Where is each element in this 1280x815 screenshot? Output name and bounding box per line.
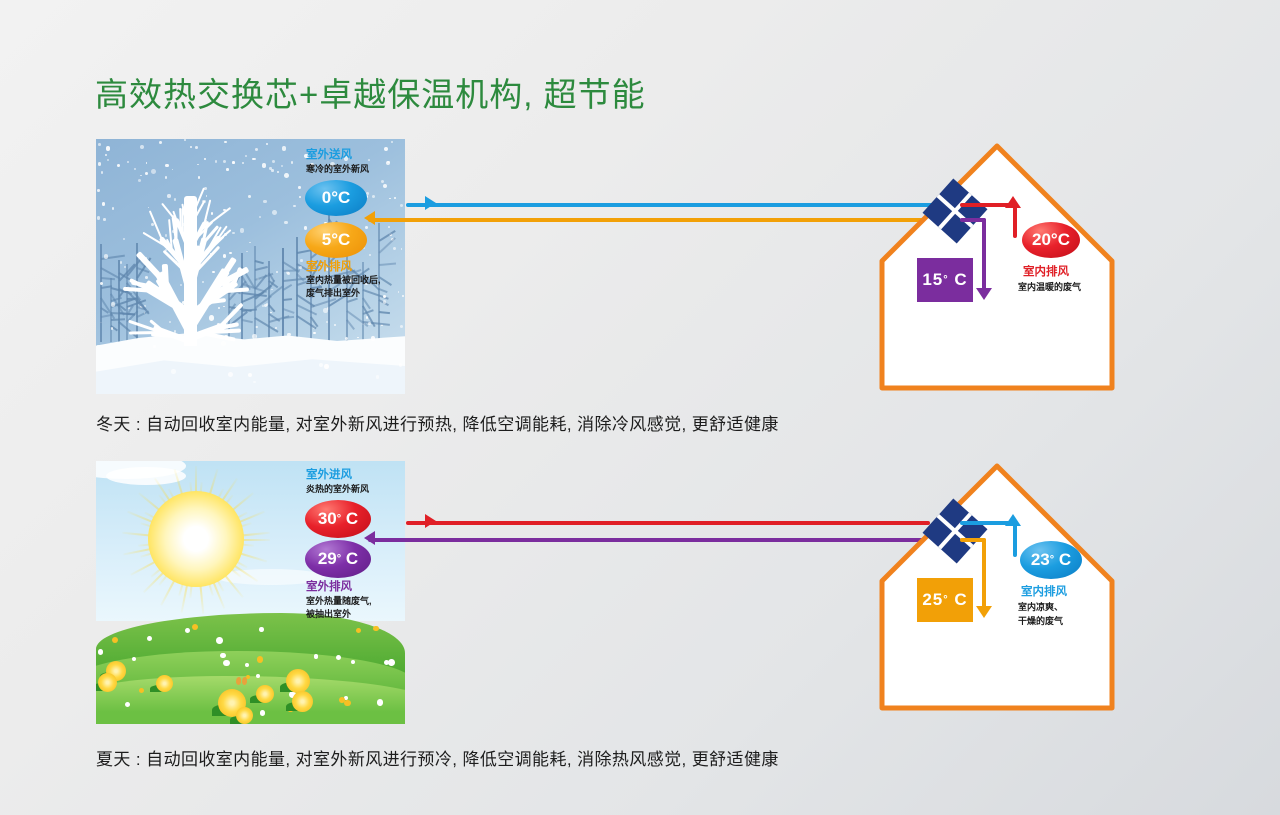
- winter-supply-duct: [406, 203, 934, 207]
- summer-return-label: 室内排风: [1021, 583, 1067, 599]
- summer-supply-temp-bubble: 30° C: [305, 500, 371, 538]
- winter-supply-temp-value: 0: [322, 188, 331, 208]
- summer-indoor-deg: °: [943, 594, 948, 606]
- summer-supply-deg: °: [337, 513, 341, 525]
- summer-return-desc-1: 室内凉爽、: [1018, 601, 1063, 614]
- summer-return-temp-bubble: 23° C: [1020, 541, 1082, 579]
- winter-house-outline: [872, 136, 1122, 398]
- winter-exhaust-duct: [368, 218, 934, 222]
- winter-exhaust-desc-2: 废气排出室外: [306, 287, 360, 300]
- winter-return-desc: 室内温暖的废气: [1018, 281, 1081, 294]
- summer-scene-image: [96, 461, 405, 724]
- summer-indoor-temp-value: 25: [922, 590, 943, 610]
- winter-supply-label: 室外送风: [306, 146, 352, 162]
- summer-supply-duct: [406, 521, 930, 525]
- winter-supply-desc: 寒冷的室外新风: [306, 163, 369, 176]
- winter-exhaust-temp-value: 5: [322, 230, 331, 250]
- summer-exhaust-deg: °: [337, 553, 341, 565]
- summer-indoor-riser: [982, 538, 986, 608]
- summer-exhaust-desc-1: 室外热量随废气,: [306, 595, 372, 608]
- winter-return-temp-bubble: 20°C: [1022, 222, 1080, 258]
- summer-return-deg: °: [1050, 554, 1054, 566]
- winter-return-arrow-up: [1005, 196, 1021, 208]
- summer-return-temp-value: 23: [1031, 550, 1050, 570]
- winter-indoor-arrow-down: [976, 288, 992, 300]
- summer-return-riser: [1013, 521, 1017, 557]
- summer-supply-temp-value: 30: [318, 509, 337, 529]
- winter-exhaust-arrow: [364, 211, 375, 225]
- summer-exhaust-temp-value: 29: [318, 549, 337, 569]
- summer-supply-label: 室外进风: [306, 466, 352, 482]
- summer-indoor-arrow-down: [976, 606, 992, 618]
- snowfall-front: [96, 139, 405, 394]
- winter-return-temp-unit: °C: [1051, 230, 1070, 250]
- winter-indoor-temp-value: 15: [922, 270, 943, 290]
- winter-return-riser: [1013, 203, 1017, 238]
- summer-exhaust-unit: C: [346, 549, 358, 569]
- summer-exhaust-desc-2: 被抽出室外: [306, 608, 351, 621]
- winter-caption: 冬天 : 自动回收室内能量, 对室外新风进行预热, 降低空调能耗, 消除冷风感觉…: [96, 410, 779, 435]
- summer-house-outline: [872, 456, 1122, 718]
- summer-return-arrow-up: [1005, 514, 1021, 526]
- winter-scene-image: [96, 139, 405, 394]
- summer-return-desc-2: 干燥的废气: [1018, 615, 1063, 628]
- winter-supply-temp-unit: °C: [331, 188, 350, 208]
- winter-supply-arrow: [425, 196, 436, 210]
- winter-return-label: 室内排风: [1023, 263, 1069, 279]
- winter-exhaust-desc-1: 室内热量被回收后,: [306, 274, 381, 287]
- winter-exhaust-label: 室外排风: [306, 258, 352, 274]
- summer-indoor-unit: C: [954, 590, 967, 610]
- sun: [148, 491, 244, 587]
- winter-house: [872, 136, 1122, 398]
- page-title: 高效热交换芯+卓越保温机构, 超节能: [95, 68, 646, 116]
- winter-indoor-unit: C: [954, 270, 967, 290]
- winter-exhaust-temp-unit: °C: [331, 230, 350, 250]
- winter-supply-temp-bubble: 0°C: [305, 180, 367, 216]
- winter-indoor-riser: [982, 218, 986, 290]
- summer-exhaust-temp-bubble: 29° C: [305, 540, 371, 578]
- slide-canvas: 高效热交换芯+卓越保温机构, 超节能 室外送风 寒冷的室外新风 0°C 5°C …: [0, 0, 1280, 815]
- winter-indoor-temp-box: 15° C: [917, 258, 973, 302]
- summer-indoor-temp-box: 25° C: [917, 578, 973, 622]
- winter-exhaust-temp-bubble: 5°C: [305, 222, 367, 258]
- summer-exhaust-duct: [368, 538, 932, 542]
- summer-exhaust-label: 室外排风: [306, 578, 352, 594]
- summer-caption: 夏天 : 自动回收室内能量, 对室外新风进行预冷, 降低空调能耗, 消除热风感觉…: [96, 745, 779, 770]
- summer-supply-desc: 炎热的室外新风: [306, 483, 369, 496]
- winter-indoor-deg: °: [943, 274, 948, 286]
- summer-return-unit: C: [1059, 550, 1071, 570]
- summer-house: [872, 456, 1122, 718]
- winter-return-temp-value: 20: [1032, 230, 1051, 250]
- summer-supply-unit: C: [346, 509, 358, 529]
- summer-supply-arrow: [425, 514, 436, 528]
- summer-exhaust-arrow: [364, 531, 375, 545]
